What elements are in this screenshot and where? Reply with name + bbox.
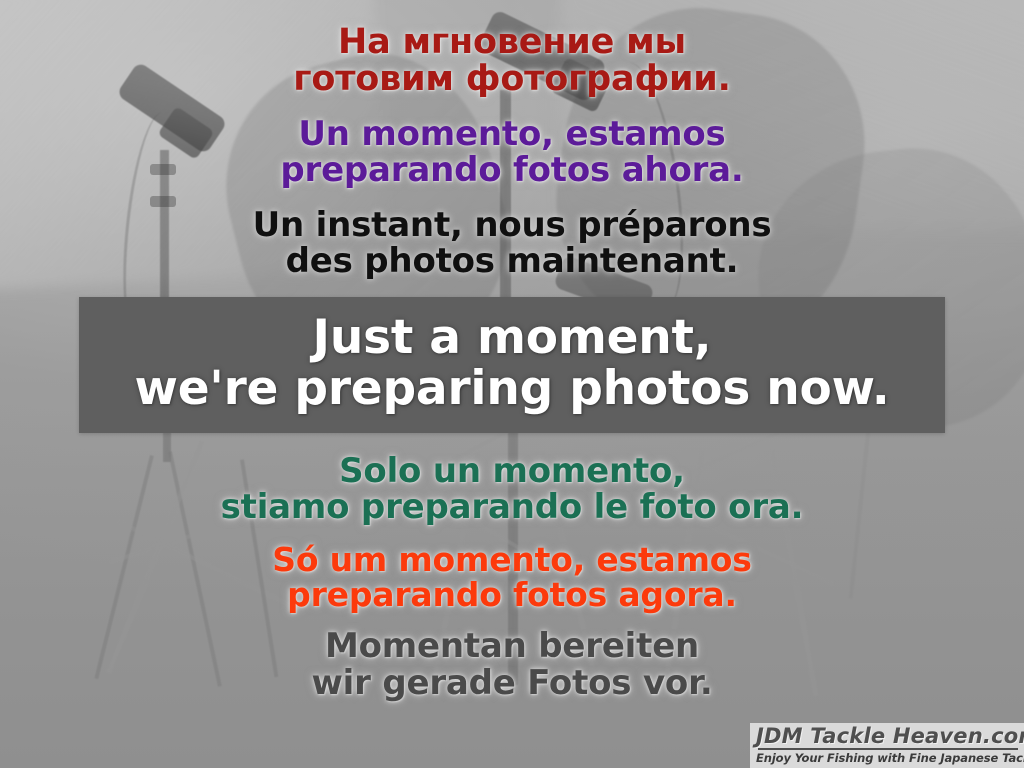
loading-message-stack: На мгновение мы готовим фотографии. Un m… — [0, 0, 1024, 768]
watermark-logo: JDM Tackle Heaven.com Enjoy Your Fishing… — [750, 723, 1024, 768]
watermark-tagline: Enjoy Your Fishing with Fine Japanese Ta… — [756, 752, 1020, 764]
loading-message-pt: Só um momento, estamos preparando fotos … — [272, 542, 751, 613]
loading-message-en: Just a moment, we're preparing photos no… — [79, 313, 945, 415]
loading-message-es: Un momento, estamos preparando fotos aho… — [280, 116, 743, 189]
loading-message-ru: На мгновение мы готовим фотографии. — [293, 24, 730, 99]
watermark-divider — [758, 748, 1018, 750]
placeholder-image: На мгновение мы готовим фотографии. Un m… — [0, 0, 1024, 768]
loading-message-fr: Un instant, nous préparons des photos ma… — [253, 207, 772, 280]
loading-message-de: Momentan bereiten wir gerade Fotos vor. — [311, 628, 712, 701]
primary-message-banner: Just a moment, we're preparing photos no… — [79, 297, 945, 433]
watermark-title: JDM Tackle Heaven.com — [756, 725, 1020, 747]
loading-message-it: Solo un momento, stiamo preparando le fo… — [221, 453, 804, 526]
